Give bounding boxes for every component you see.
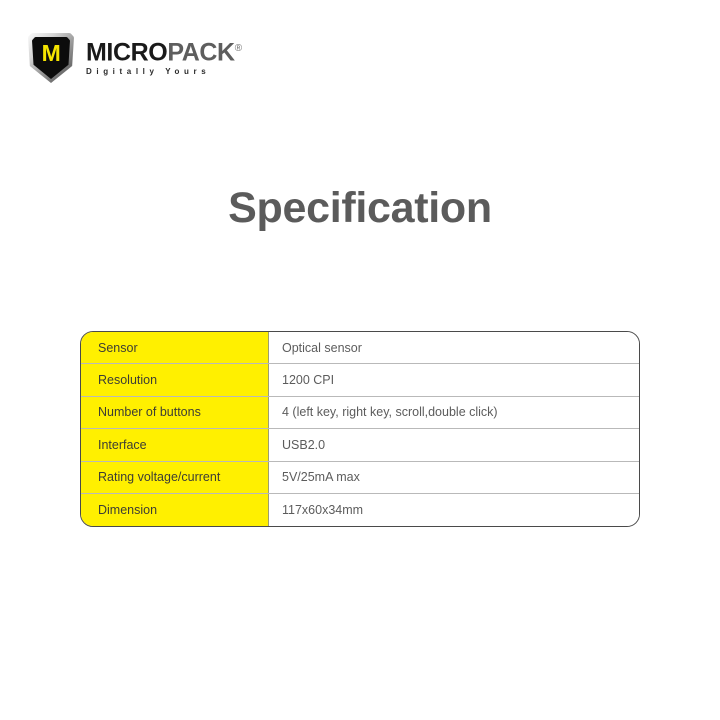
spec-value-cell: 5V/25mA max [269, 462, 639, 493]
spec-label-cell: Sensor [81, 332, 269, 363]
brand-name: MICROPACK® [86, 36, 242, 65]
registered-mark-icon: ® [235, 43, 242, 54]
brand-name-part1: MICRO [86, 38, 167, 66]
table-row: Number of buttons4 (left key, right key,… [81, 397, 639, 429]
page-title: Specification [0, 183, 720, 233]
spec-value-cell: USB2.0 [269, 429, 639, 460]
shield-icon: M [28, 33, 74, 83]
table-row: Dimension117x60x34mm [81, 494, 639, 526]
spec-label-cell: Number of buttons [81, 397, 269, 428]
table-row: Resolution1200 CPI [81, 364, 639, 396]
spec-label-cell: Dimension [81, 494, 269, 526]
brand-name-part2: PACK [167, 38, 234, 66]
brand-logo: M MICROPACK® Digitally Yours [28, 33, 242, 85]
spec-value-cell: 117x60x34mm [269, 494, 639, 526]
table-row: InterfaceUSB2.0 [81, 429, 639, 461]
shield-letter: M [28, 42, 74, 65]
spec-label-cell: Interface [81, 429, 269, 460]
table-row: Rating voltage/current5V/25mA max [81, 462, 639, 494]
specification-table: SensorOptical sensorResolution1200 CPINu… [80, 331, 640, 527]
spec-value-cell: 4 (left key, right key, scroll,double cl… [269, 397, 639, 428]
brand-wordmark: MICROPACK® Digitally Yours [86, 33, 242, 78]
table-row: SensorOptical sensor [81, 332, 639, 364]
spec-value-cell: 1200 CPI [269, 364, 639, 395]
spec-value-cell: Optical sensor [269, 332, 639, 363]
brand-tagline: Digitally Yours [86, 66, 242, 78]
spec-label-cell: Rating voltage/current [81, 462, 269, 493]
spec-label-cell: Resolution [81, 364, 269, 395]
